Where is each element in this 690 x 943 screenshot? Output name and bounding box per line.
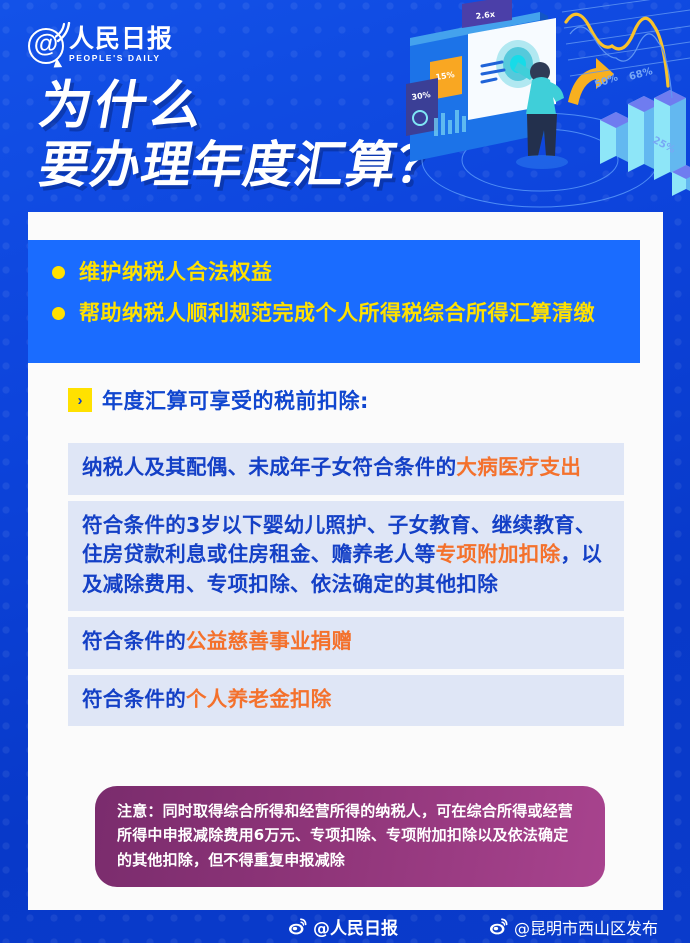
bullet-dot-icon [52,266,65,279]
bar-chart-3d [600,90,690,196]
card-text-highlight: 公益慈善事业捐赠 [186,629,352,653]
dashboard-illustration: 2.6x 15% 30% [390,0,690,215]
peoples-daily-logo: @ 人民日报 PEOPLE'S DAILY [28,26,173,64]
key-point-text: 维护纳税人合法权益 [79,258,273,287]
section-heading-text: 年度汇算可享受的税前扣除: [102,385,369,415]
card-text-pre: 符合条件的 [82,629,186,653]
blue-line-series [570,27,672,98]
weibo-icon [288,918,307,935]
card-text-highlight: 大病医疗支出 [456,455,581,479]
card-text-highlight: 专项附加扣除 [436,542,561,566]
key-points-box: 维护纳税人合法权益 帮助纳税人顺利规范完成个人所得税综合所得汇算清缴 [28,240,640,363]
notice-box: 注意：同时取得综合所得和经营所得的纳税人，可在综合所得或经营所得中申报减除费用6… [95,786,605,887]
page-title: 为什么 要办理年度汇算？ [40,76,448,194]
logo-chinese-name: 人民日报 [69,26,173,51]
weibo-icon [489,918,508,935]
footer-handle-text: @昆明市西山区发布 [514,915,658,939]
logo-english-name: PEOPLE'S DAILY [69,54,173,63]
deduction-card: 纳税人及其配偶、未成年子女符合条件的大病医疗支出 [68,443,624,495]
deduction-card: 符合条件的个人养老金扣除 [68,675,624,727]
key-point-item: 维护纳税人合法权益 [28,240,640,287]
deduction-card: 符合条件的3岁以下婴幼儿照护、子女教育、继续教育、住房贷款利息或住房租金、赡养老… [68,501,624,612]
chevron-right-icon: › [68,388,92,412]
stat-card-30: 30% [406,78,438,136]
poster-root: @ 人民日报 PEOPLE'S DAILY 为什么 要办理年度汇算？ [0,0,690,943]
logo-text-block: 人民日报 PEOPLE'S DAILY [69,26,173,64]
footer-account-xishan[interactable]: @昆明市西山区发布 [489,915,658,939]
footer-handle-text: @人民日报 [313,914,398,939]
bullet-dot-icon [52,307,65,320]
key-point-text: 帮助纳税人顺利规范完成个人所得税综合所得汇算清缴 [79,299,595,328]
deduction-card-list: 纳税人及其配偶、未成年子女符合条件的大病医疗支出 符合条件的3岁以下婴幼儿照护、… [68,443,624,732]
notice-text: 注意：同时取得综合所得和经营所得的纳税人，可在综合所得或经营所得中申报减除费用6… [117,799,583,872]
deduction-card: 符合条件的公益慈善事业捐赠 [68,617,624,669]
at-symbol-icon: @ [28,28,64,64]
header-section: @ 人民日报 PEOPLE'S DAILY 为什么 要办理年度汇算？ [0,0,690,232]
card-text-pre: 纳税人及其配偶、未成年子女符合条件的 [82,455,456,479]
footer-bar: @人民日报 @昆明市西山区发布 [0,910,690,943]
footer-account-peoples-daily[interactable]: @人民日报 [288,914,398,939]
key-point-item: 帮助纳税人顺利规范完成个人所得税综合所得汇算清缴 [28,287,640,328]
card-text-pre: 符合条件的 [82,687,186,711]
sound-wave-icon [55,22,73,44]
logo-pointer-tail [54,58,65,70]
label-68: 68% [628,66,654,83]
card-text-highlight: 个人养老金扣除 [186,687,332,711]
section-heading: › 年度汇算可享受的税前扣除: [68,385,369,415]
